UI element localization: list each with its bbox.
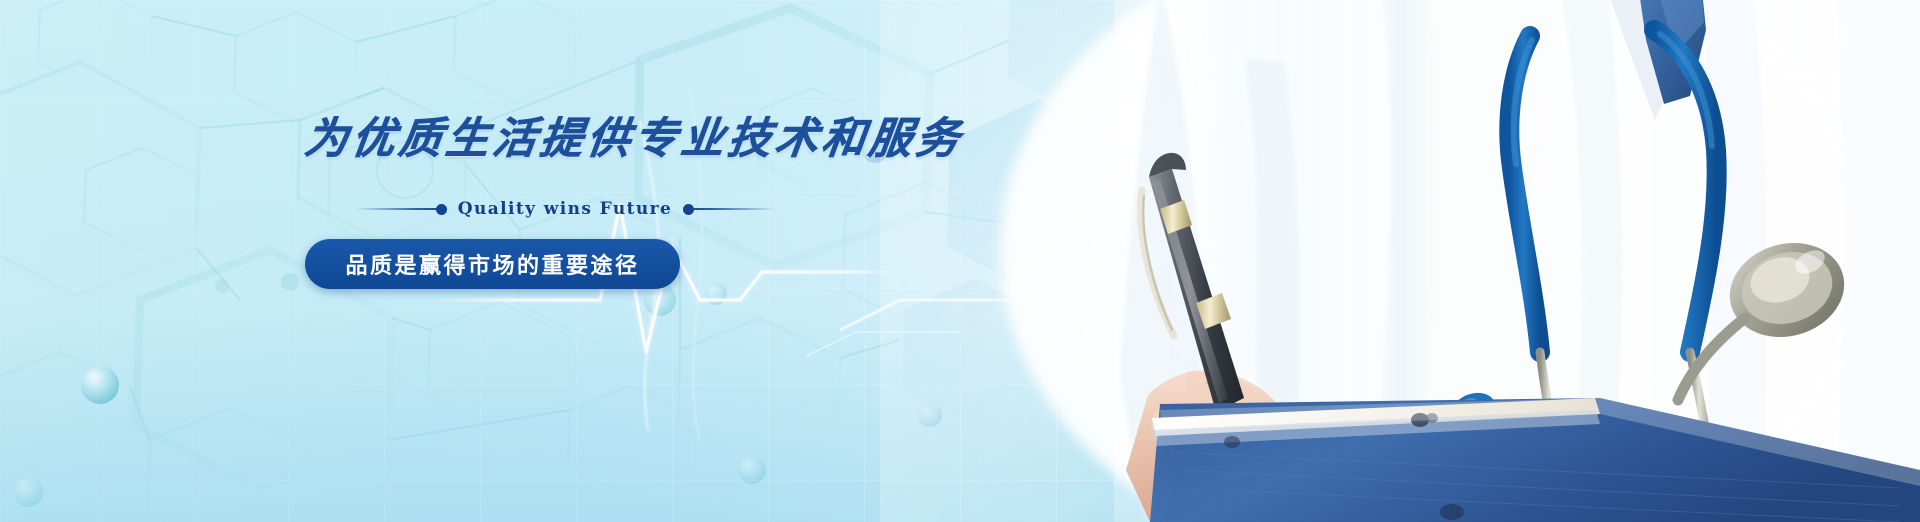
banner-content: 为优质生活提供专业技术和服务 Quality wins Future 品质是赢得… xyxy=(305,118,1065,289)
english-tagline: Quality wins Future xyxy=(447,199,683,219)
tagline-divider: Quality wins Future xyxy=(355,199,775,219)
page-title: 为优质生活提供专业技术和服务 xyxy=(302,118,1067,161)
cta-button-label: 品质是赢得市场的重要途径 xyxy=(345,248,639,280)
divider-dot-right xyxy=(683,204,694,215)
divider-rule-right xyxy=(694,208,775,210)
divider-dot-left xyxy=(436,204,447,215)
divider-rule-left xyxy=(355,208,436,210)
hero-banner: 为优质生活提供专业技术和服务 Quality wins Future 品质是赢得… xyxy=(0,0,1920,522)
cta-button[interactable]: 品质是赢得市场的重要途径 xyxy=(305,239,680,289)
